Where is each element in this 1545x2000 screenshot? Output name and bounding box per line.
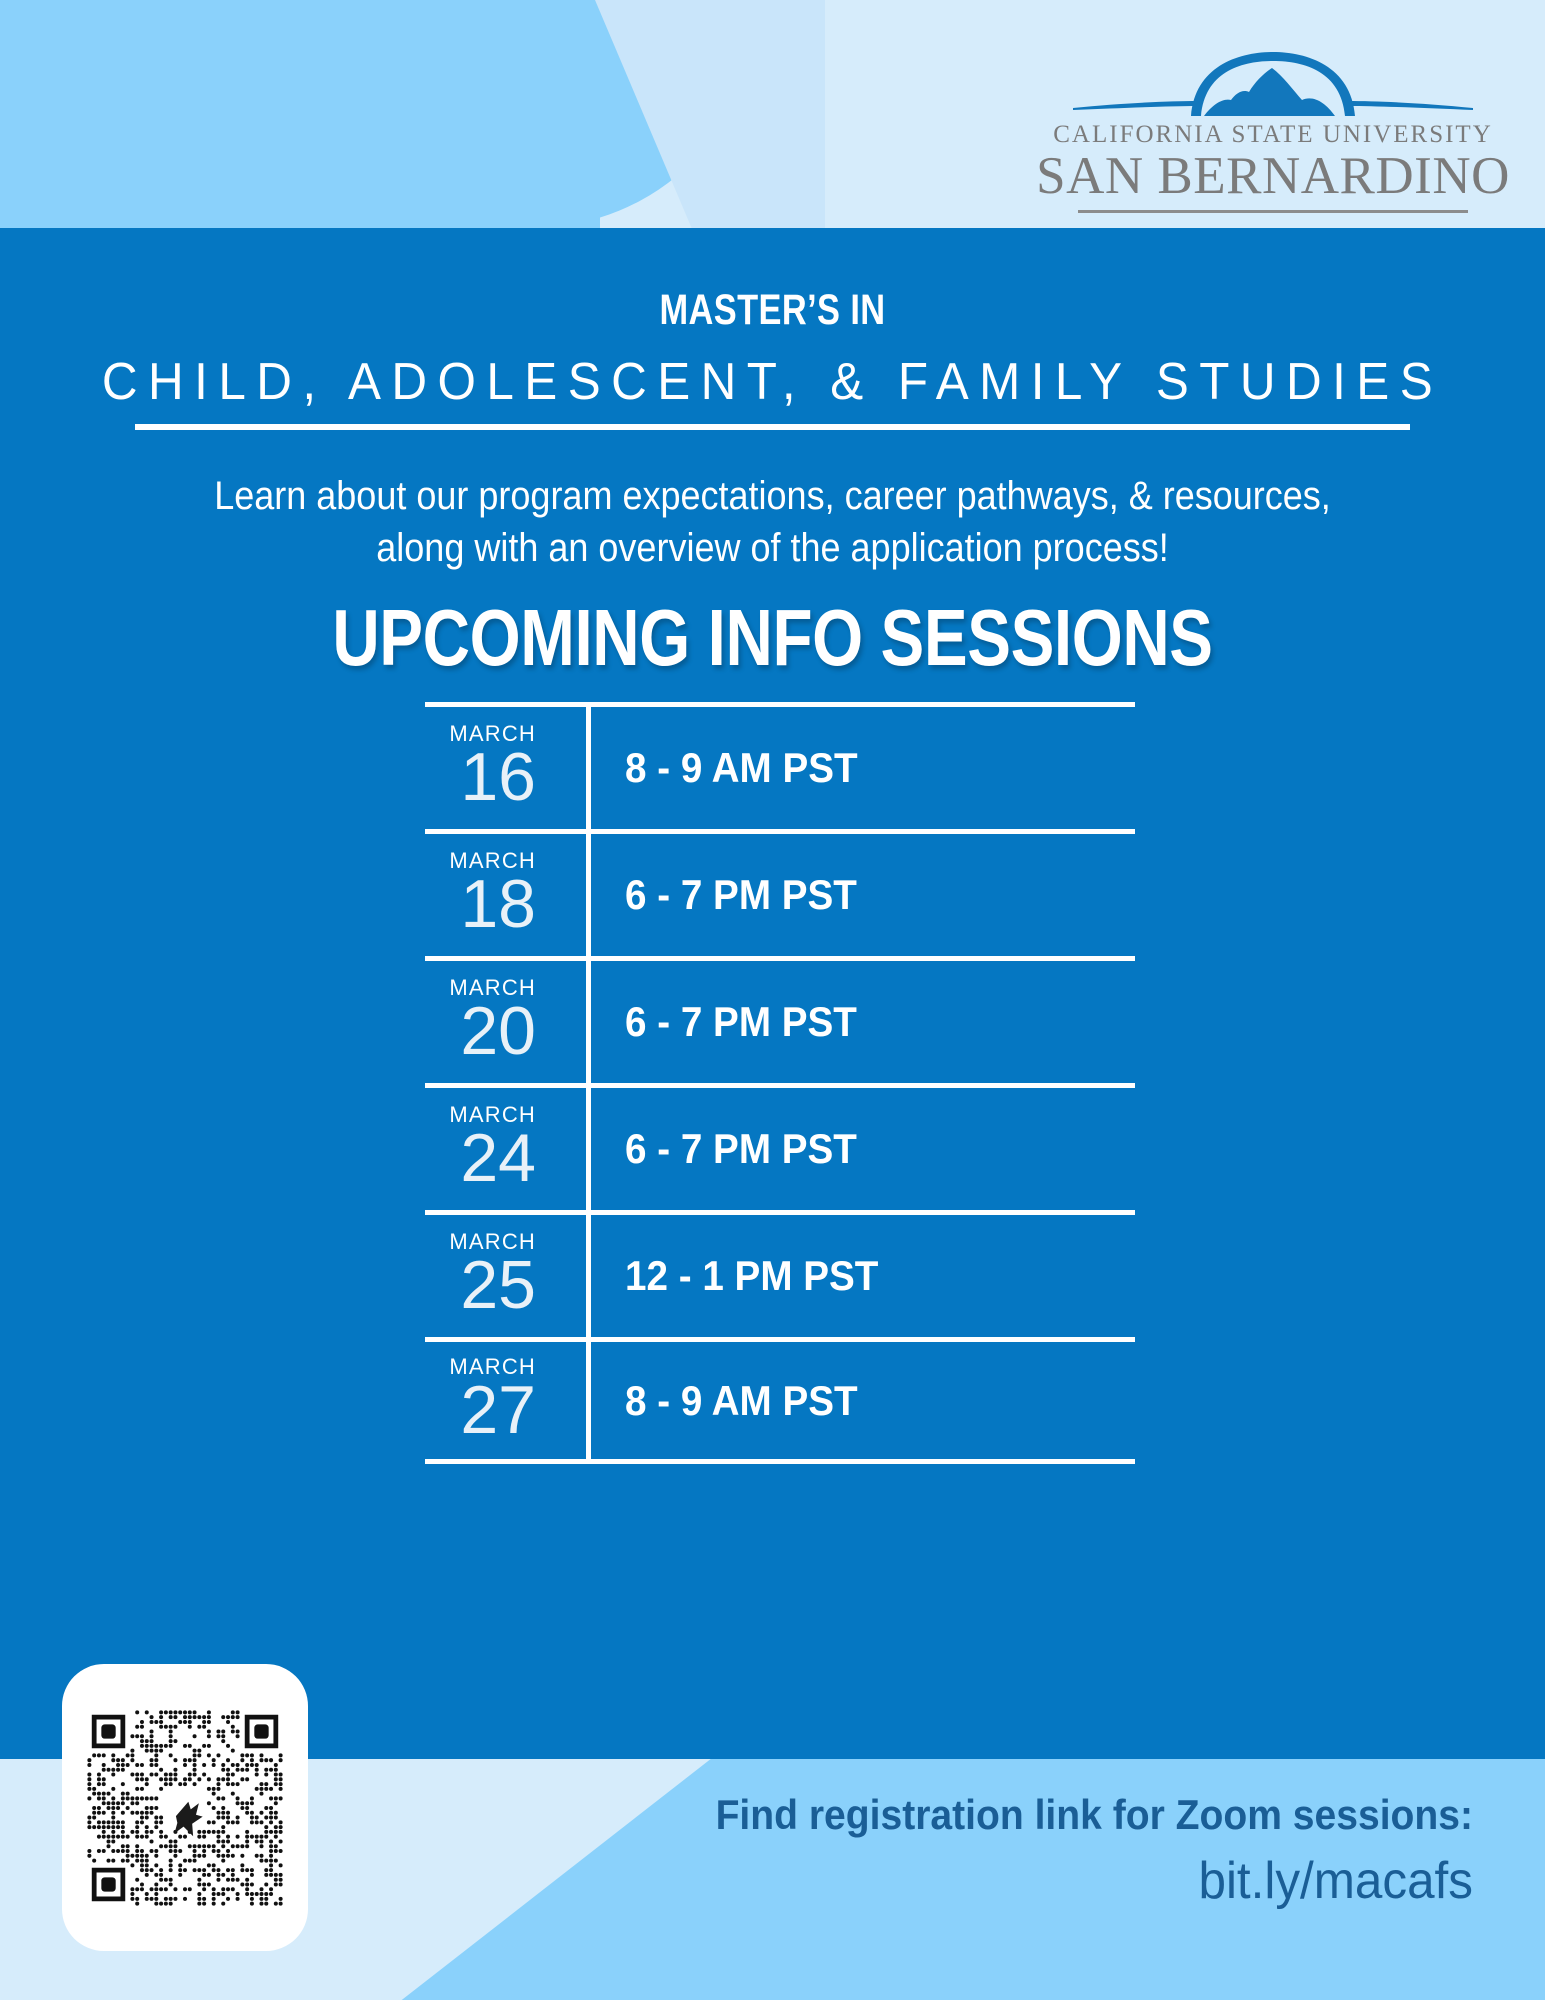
session-time: 12 - 1 PM PST	[625, 1252, 878, 1300]
session-row: MARCH186 - 7 PM PST	[425, 829, 1135, 956]
page-title: CHILD, ADOLESCENT, & FAMILY STUDIES	[39, 352, 1507, 412]
session-date-cell: MARCH24	[425, 1088, 591, 1210]
page-header: CALIFORNIA STATE UNIVERSITY SAN BERNARDI…	[0, 0, 1545, 228]
registration-url[interactable]: bit.ly/macafs	[542, 1851, 1473, 1911]
eyebrow-masters-in: MASTER’S IN	[155, 286, 1391, 335]
qr-code-card[interactable]	[62, 1664, 308, 1951]
session-time-cell: 8 - 9 AM PST	[591, 1342, 1135, 1459]
session-date-cell: MARCH18	[425, 834, 591, 956]
session-row: MARCH168 - 9 AM PST	[425, 702, 1135, 829]
session-time: 8 - 9 AM PST	[625, 744, 858, 792]
session-row: MARCH278 - 9 AM PST	[425, 1337, 1135, 1464]
session-time: 6 - 7 PM PST	[625, 1125, 857, 1173]
csusb-mountain-arch-icon	[1073, 48, 1473, 120]
qr-code-icon[interactable]	[87, 1710, 283, 1906]
session-time: 8 - 9 AM PST	[625, 1377, 858, 1425]
session-time-cell: 8 - 9 AM PST	[591, 707, 1135, 829]
session-row: MARCH206 - 7 PM PST	[425, 956, 1135, 1083]
session-day: 24	[460, 1124, 536, 1192]
session-time-cell: 6 - 7 PM PST	[591, 961, 1135, 1083]
session-time: 6 - 7 PM PST	[625, 998, 857, 1046]
session-day: 25	[460, 1251, 536, 1319]
main-panel: MASTER’S IN CHILD, ADOLESCENT, & FAMILY …	[0, 228, 1545, 1759]
program-description: Learn about our program expectations, ca…	[185, 470, 1360, 574]
session-row: MARCH246 - 7 PM PST	[425, 1083, 1135, 1210]
session-time-cell: 6 - 7 PM PST	[591, 1088, 1135, 1210]
session-date-cell: MARCH27	[425, 1342, 591, 1459]
sessions-table: MARCH168 - 9 AM PSTMARCH186 - 7 PM PSTMA…	[425, 702, 1135, 1464]
session-time-cell: 6 - 7 PM PST	[591, 834, 1135, 956]
sessions-heading: UPCOMING INFO SESSIONS	[139, 592, 1406, 684]
session-date-cell: MARCH16	[425, 707, 591, 829]
title-divider	[135, 424, 1410, 430]
session-time-cell: 12 - 1 PM PST	[591, 1215, 1135, 1337]
session-day: 20	[460, 997, 536, 1065]
session-row: MARCH2512 - 1 PM PST	[425, 1210, 1135, 1337]
session-day: 18	[460, 870, 536, 938]
logo-line-campus: SAN BERNARDINO	[1036, 149, 1510, 204]
logo-line-university: CALIFORNIA STATE UNIVERSITY	[1053, 121, 1493, 149]
csusb-logo: CALIFORNIA STATE UNIVERSITY SAN BERNARDI…	[1073, 48, 1473, 213]
session-date-cell: MARCH20	[425, 961, 591, 1083]
session-date-cell: MARCH25	[425, 1215, 591, 1337]
session-day: 27	[460, 1376, 536, 1444]
session-time: 6 - 7 PM PST	[625, 871, 857, 919]
registration-cta: Find registration link for Zoom sessions…	[562, 1791, 1473, 1839]
session-day: 16	[460, 743, 536, 811]
logo-underline	[1078, 210, 1468, 213]
